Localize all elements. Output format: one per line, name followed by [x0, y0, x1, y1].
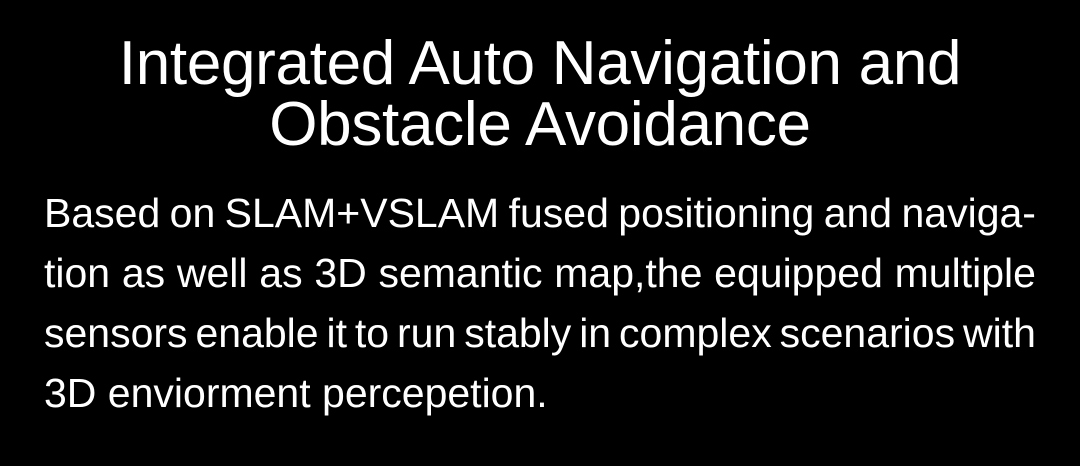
body-line-2: tion as well as 3D semantic map,the equi… — [44, 243, 1036, 303]
body-word: fused — [509, 183, 609, 243]
body-line-1: Based on SLAM+VSLAM fused positioning an… — [44, 183, 1036, 243]
body-word: run — [397, 303, 456, 363]
body-line-4: 3D enviorment percepetion. — [44, 363, 1036, 423]
body-line-3: sensors enable it to run stably in compl… — [44, 303, 1036, 363]
body-word: enable — [195, 303, 318, 363]
slide-root: Integrated Auto Navigation and Obstacle … — [0, 0, 1080, 466]
body-word: semantic — [378, 243, 542, 303]
body-word: complex — [619, 303, 772, 363]
body-word: as — [259, 243, 302, 303]
slide-body: Based on SLAM+VSLAM fused positioning an… — [44, 183, 1036, 423]
body-word: well — [177, 243, 248, 303]
body-word: 3D — [314, 243, 366, 303]
body-word: Based — [44, 183, 160, 243]
slide-title-line-2: Obstacle Avoidance — [0, 94, 1080, 155]
body-word: with — [963, 303, 1036, 363]
body-word: equipped — [714, 243, 883, 303]
slide-title-line-1: Integrated Auto Navigation and — [0, 33, 1080, 94]
body-word: to — [355, 303, 389, 363]
body-word: multiple — [895, 243, 1036, 303]
body-word: tion — [44, 243, 110, 303]
body-word: sensors — [44, 303, 188, 363]
body-word: positioning — [618, 183, 814, 243]
body-word: it — [327, 303, 348, 363]
body-word: on — [170, 183, 216, 243]
body-word: and — [824, 183, 892, 243]
body-word: naviga- — [901, 183, 1035, 243]
body-word: SLAM+VSLAM — [225, 183, 500, 243]
body-word: map,the — [554, 243, 702, 303]
body-word: scenarios — [780, 303, 955, 363]
body-word: in — [579, 303, 611, 363]
body-word: stably — [464, 303, 571, 363]
body-word: as — [122, 243, 165, 303]
slide-title: Integrated Auto Navigation and Obstacle … — [0, 33, 1080, 155]
